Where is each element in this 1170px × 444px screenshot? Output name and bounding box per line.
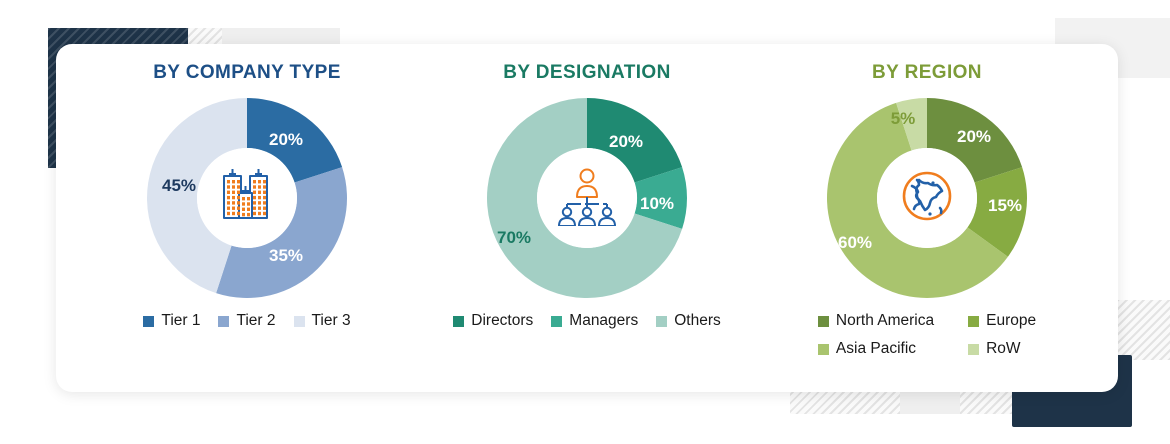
org-chart-people-icon — [555, 166, 619, 231]
chart-legend-1: Tier 1Tier 2Tier 3 — [143, 312, 350, 330]
slice-value-label: 15% — [988, 196, 1022, 216]
legend-swatch-icon — [294, 316, 305, 327]
donut-chart-3: 20%15%60%5% — [827, 98, 1027, 298]
slice-value-label: 45% — [162, 176, 196, 196]
panel-title: BY REGION — [872, 62, 982, 84]
legend-item[interactable]: Tier 1 — [143, 312, 200, 330]
legend-label: Others — [674, 312, 721, 330]
legend-item[interactable]: Tier 2 — [218, 312, 275, 330]
globe-icon — [895, 164, 959, 233]
legend-label: Tier 3 — [312, 312, 351, 330]
legend-label: North America — [836, 312, 934, 330]
legend-item[interactable]: Asia Pacific — [818, 340, 934, 358]
legend-item[interactable]: Others — [656, 312, 721, 330]
chart-panels: BY COMPANY TYPE 20%35%45%Tier 1Tier 2Tie… — [56, 44, 1118, 392]
donut-center — [537, 148, 637, 248]
slice-value-label: 20% — [957, 127, 991, 147]
office-buildings-icon — [216, 165, 278, 232]
legend-swatch-icon — [143, 316, 154, 327]
slice-value-label: 60% — [838, 233, 872, 253]
slice-value-label: 5% — [891, 109, 916, 129]
legend-swatch-icon — [818, 316, 829, 327]
infographic-canvas: BY COMPANY TYPE 20%35%45%Tier 1Tier 2Tie… — [0, 0, 1170, 444]
slice-value-label: 20% — [269, 130, 303, 150]
legend-item[interactable]: Directors — [453, 312, 533, 330]
legend-item[interactable]: Tier 3 — [294, 312, 351, 330]
chart-legend-2: DirectorsManagersOthers — [453, 312, 720, 330]
chart-panel-2: BY DESIGNATION 20%10%70%DirectorsManager… — [422, 62, 752, 330]
chart-panel-1: BY COMPANY TYPE 20%35%45%Tier 1Tier 2Tie… — [82, 62, 412, 330]
legend-item[interactable]: Managers — [551, 312, 638, 330]
donut-center — [197, 148, 297, 248]
legend-label: Managers — [569, 312, 638, 330]
legend-label: Asia Pacific — [836, 340, 916, 358]
chart-panel-3: BY REGION 20%15%60%5%North AmericaEurope… — [762, 62, 1092, 358]
panel-title: BY DESIGNATION — [503, 62, 670, 84]
legend-label: Tier 1 — [161, 312, 200, 330]
legend-swatch-icon — [218, 316, 229, 327]
chart-legend-3: North AmericaEuropeAsia PacificRoW — [818, 312, 1036, 358]
content-card: BY COMPANY TYPE 20%35%45%Tier 1Tier 2Tie… — [56, 44, 1118, 392]
legend-swatch-icon — [968, 344, 979, 355]
legend-swatch-icon — [551, 316, 562, 327]
legend-swatch-icon — [968, 316, 979, 327]
legend-swatch-icon — [818, 344, 829, 355]
panel-title: BY COMPANY TYPE — [153, 62, 341, 84]
legend-label: RoW — [986, 340, 1020, 358]
donut-chart-1: 20%35%45% — [147, 98, 347, 298]
legend-label: Tier 2 — [236, 312, 275, 330]
legend-item[interactable]: North America — [818, 312, 934, 330]
legend-item[interactable]: RoW — [968, 340, 1036, 358]
legend-item[interactable]: Europe — [968, 312, 1036, 330]
legend-swatch-icon — [656, 316, 667, 327]
donut-chart-2: 20%10%70% — [487, 98, 687, 298]
legend-swatch-icon — [453, 316, 464, 327]
slice-value-label: 10% — [640, 194, 674, 214]
donut-center — [877, 148, 977, 248]
slice-value-label: 35% — [269, 246, 303, 266]
legend-label: Europe — [986, 312, 1036, 330]
slice-value-label: 70% — [497, 228, 531, 248]
slice-value-label: 20% — [609, 132, 643, 152]
legend-label: Directors — [471, 312, 533, 330]
